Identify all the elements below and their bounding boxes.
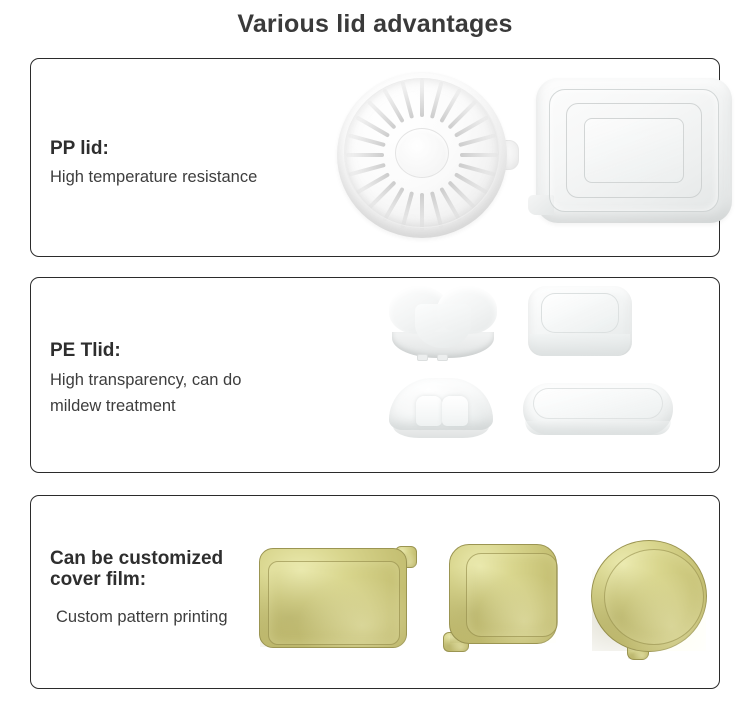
pp-lid-heading: PP lid: [50, 138, 257, 159]
pp-lid-description: High temperature resistance [50, 165, 257, 191]
lid-advantages-page: Various lid advantages PP lid: High temp… [0, 0, 750, 713]
round-dome-lid-wedge-left [416, 396, 442, 426]
round-pp-lid-hub [395, 128, 449, 178]
page-title: Various lid advantages [0, 10, 750, 39]
round-dome-lid-image [389, 376, 493, 438]
rectangular-pp-lid-image [536, 78, 732, 223]
pet-lid-description: High transparency, can do mildew treatme… [50, 368, 300, 419]
custom-cover-film-description: Custom pattern printing [50, 605, 228, 631]
oval-clear-lid-lip [525, 421, 671, 435]
heart-dome-lid-dome [389, 286, 497, 342]
rectangular-pp-lid-ring-inner [584, 118, 684, 183]
gold-square-foil-lid-plate [449, 544, 557, 644]
square-clear-lid-top [541, 293, 619, 333]
gold-round-foil-lid-inset [604, 549, 704, 645]
gold-rectangular-foil-lid-inset [268, 561, 400, 645]
gold-rectangular-foil-lid-image [259, 544, 417, 652]
heart-dome-lid-clip-right [437, 354, 448, 361]
round-dome-lid-wedge-right [442, 396, 468, 426]
heart-point [415, 304, 471, 348]
square-clear-lid-skirt [530, 334, 630, 356]
square-clear-lid-image [528, 286, 632, 356]
custom-cover-film-heading: Can be customized cover film: [50, 548, 228, 591]
gold-square-foil-lid-image [441, 544, 561, 656]
gold-round-foil-lid-image [587, 540, 715, 660]
custom-cover-film-text-block: Can be customized cover film: Custom pat… [50, 548, 228, 630]
pp-lid-text-block: PP lid: High temperature resistance [50, 138, 257, 191]
panel-pet-lid: PE Tlid: High transparency, can do milde… [30, 277, 720, 473]
panel-pp-lid: PP lid: High temperature resistance [30, 58, 720, 257]
heart-dome-lid-image [389, 286, 497, 358]
panel-custom-cover-film: Can be customized cover film: Custom pat… [30, 495, 720, 689]
round-pp-lid-image [331, 66, 521, 246]
oval-clear-lid-image [523, 383, 673, 435]
heart-dome-lid-clip-left [417, 354, 428, 361]
gold-square-foil-lid-inset [466, 553, 558, 637]
oval-clear-lid-inner [533, 388, 663, 419]
gold-rectangular-foil-lid-plate [259, 548, 407, 648]
pet-lid-heading: PE Tlid: [50, 340, 300, 361]
gold-round-foil-lid-plate [591, 540, 707, 652]
pet-lid-text-block: PE Tlid: High transparency, can do milde… [50, 340, 300, 419]
